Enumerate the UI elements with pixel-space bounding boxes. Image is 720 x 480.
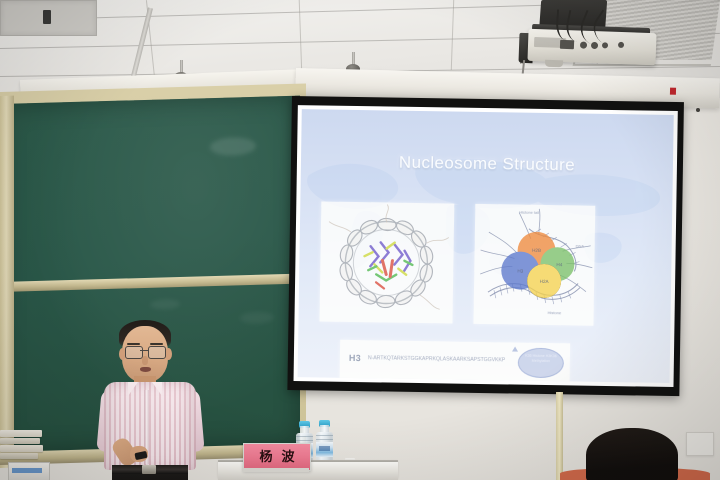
nameplate-char-1: 杨 xyxy=(259,451,272,464)
schematic-label-dna: DNA xyxy=(576,243,585,248)
projection-screen[interactable]: Nucleosome Structure xyxy=(287,96,684,396)
nucleosome-crystal-panel xyxy=(319,201,454,323)
glasses-bridge xyxy=(140,350,148,351)
glasses-lens-right xyxy=(148,346,166,359)
blackboard-left-edge xyxy=(0,96,14,468)
presenter xyxy=(86,318,214,480)
svg-text:H3: H3 xyxy=(517,269,523,274)
nucleosome-schematic-image: H2B H4 H3 H2A xyxy=(473,204,595,326)
nucleosome-schematic-panel: H2B H4 H3 H2A Histone tail DNA Histone xyxy=(473,204,595,326)
svg-text:H2A: H2A xyxy=(540,279,550,284)
supply-box-label xyxy=(12,468,42,473)
projector-lens xyxy=(545,60,563,68)
nameplate-char-2: 波 xyxy=(282,451,295,464)
speaker-nameplate: 杨 波 xyxy=(243,443,311,471)
bottle-label xyxy=(316,442,333,457)
brand-logo-mark xyxy=(670,87,676,94)
lecture-hall-photo: Nucleosome Structure xyxy=(0,0,720,480)
sequence-callout-bubble: K36 Histone H3K36 Methylation xyxy=(518,348,564,379)
h3-label: H3 xyxy=(349,353,361,363)
wall-outlet-plate xyxy=(686,432,714,456)
nameplate-stand xyxy=(243,468,309,472)
screen-housing-logo xyxy=(670,87,704,96)
ceiling-access-panel xyxy=(0,0,97,36)
presenter-nose xyxy=(142,356,148,365)
projected-slide: Nucleosome Structure xyxy=(298,109,674,383)
svg-text:H4: H4 xyxy=(556,262,562,267)
glasses-lens-left xyxy=(125,346,143,359)
svg-text:H2B: H2B xyxy=(532,248,541,253)
shirt-collar-left xyxy=(128,382,138,396)
sequence-callout-arrow xyxy=(512,346,518,351)
shirt-collar-right xyxy=(152,382,162,396)
presenter-brow-right xyxy=(150,343,163,345)
schematic-label-histone-tail: Histone tail xyxy=(519,210,539,215)
nucleosome-crystal-image xyxy=(319,201,454,323)
schematic-label-histone: Histone xyxy=(548,310,562,315)
wall-sensor-dot xyxy=(696,108,700,112)
presenter-brow-left xyxy=(127,343,140,345)
sequence-callout-text: K36 Histone H3K36 Methylation xyxy=(519,354,563,365)
presenter-ear-right xyxy=(165,348,172,360)
presenter-mouth xyxy=(140,367,151,372)
audience-member-head xyxy=(586,428,678,480)
h3-sequence-panel: H3 N-ARTKQTARKSTGGKAPRKQLASKAARKSAPSTGGV… xyxy=(340,340,571,383)
door-frame xyxy=(556,392,563,480)
belt-buckle xyxy=(142,465,156,474)
supply-box xyxy=(8,462,50,480)
